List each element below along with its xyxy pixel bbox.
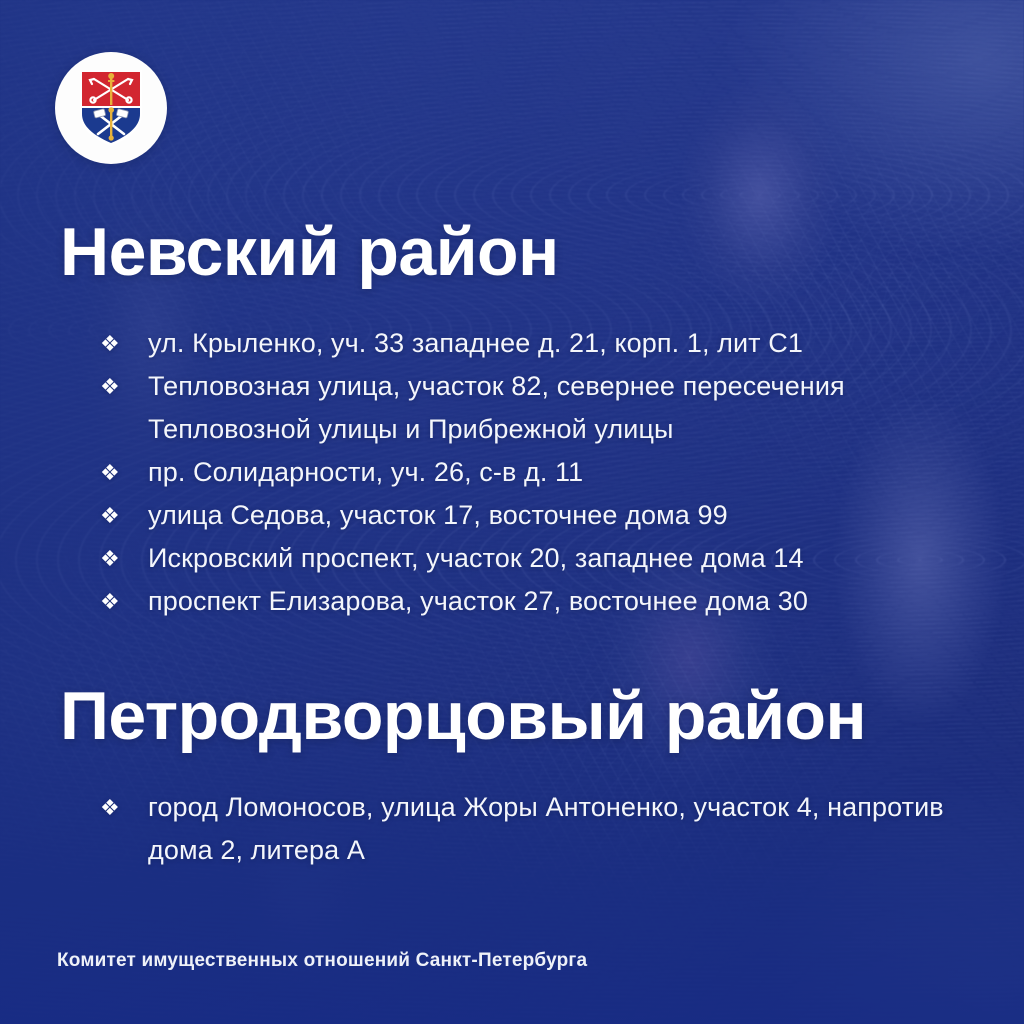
address-text: пр. Солидарности, уч. 26, с-в д. 11 <box>148 451 1000 494</box>
address-list-petrodvortsovy: ❖ город Ломоносов, улица Жоры Антоненко,… <box>100 786 1000 872</box>
bullet-diamond-icon: ❖ <box>100 451 148 494</box>
list-item: ❖ ул. Крыленко, уч. 33 западнее д. 21, к… <box>100 322 1000 365</box>
poster-content: Невский район ❖ ул. Крыленко, уч. 33 зап… <box>0 0 1024 1024</box>
address-text: Тепловозная улица, участок 82, севернее … <box>148 365 1000 451</box>
footer-organization-name: Комитет имущественных отношений Санкт-Пе… <box>57 950 587 972</box>
list-item: ❖ город Ломоносов, улица Жоры Антоненко,… <box>100 786 1000 872</box>
saint-petersburg-coat-of-arms-icon <box>78 68 144 148</box>
list-item: ❖ улица Седова, участок 17, восточнее до… <box>100 494 1000 537</box>
list-item: ❖ Искровский проспект, участок 20, запад… <box>100 537 1000 580</box>
poster-canvas: Невский район ❖ ул. Крыленко, уч. 33 зап… <box>0 0 1024 1024</box>
address-text: улица Седова, участок 17, восточнее дома… <box>148 494 1000 537</box>
address-text: Искровский проспект, участок 20, западне… <box>148 537 1000 580</box>
district-heading-petrodvortsovy: Петродворцовый район <box>60 682 866 750</box>
bullet-diamond-icon: ❖ <box>100 580 148 623</box>
list-item: ❖ Тепловозная улица, участок 82, северне… <box>100 365 1000 451</box>
bullet-diamond-icon: ❖ <box>100 494 148 537</box>
bullet-diamond-icon: ❖ <box>100 537 148 580</box>
address-text: город Ломоносов, улица Жоры Антоненко, у… <box>148 786 1000 872</box>
list-item: ❖ пр. Солидарности, уч. 26, с-в д. 11 <box>100 451 1000 494</box>
list-item: ❖ проспект Елизарова, участок 27, восточ… <box>100 580 1000 623</box>
address-list-nevsky: ❖ ул. Крыленко, уч. 33 западнее д. 21, к… <box>100 322 1000 623</box>
bullet-diamond-icon: ❖ <box>100 322 148 365</box>
address-text: ул. Крыленко, уч. 33 западнее д. 21, кор… <box>148 322 1000 365</box>
bullet-diamond-icon: ❖ <box>100 786 148 829</box>
logo-badge <box>55 52 167 164</box>
district-heading-nevsky: Невский район <box>60 218 559 286</box>
bullet-diamond-icon: ❖ <box>100 365 148 408</box>
address-text: проспект Елизарова, участок 27, восточне… <box>148 580 1000 623</box>
